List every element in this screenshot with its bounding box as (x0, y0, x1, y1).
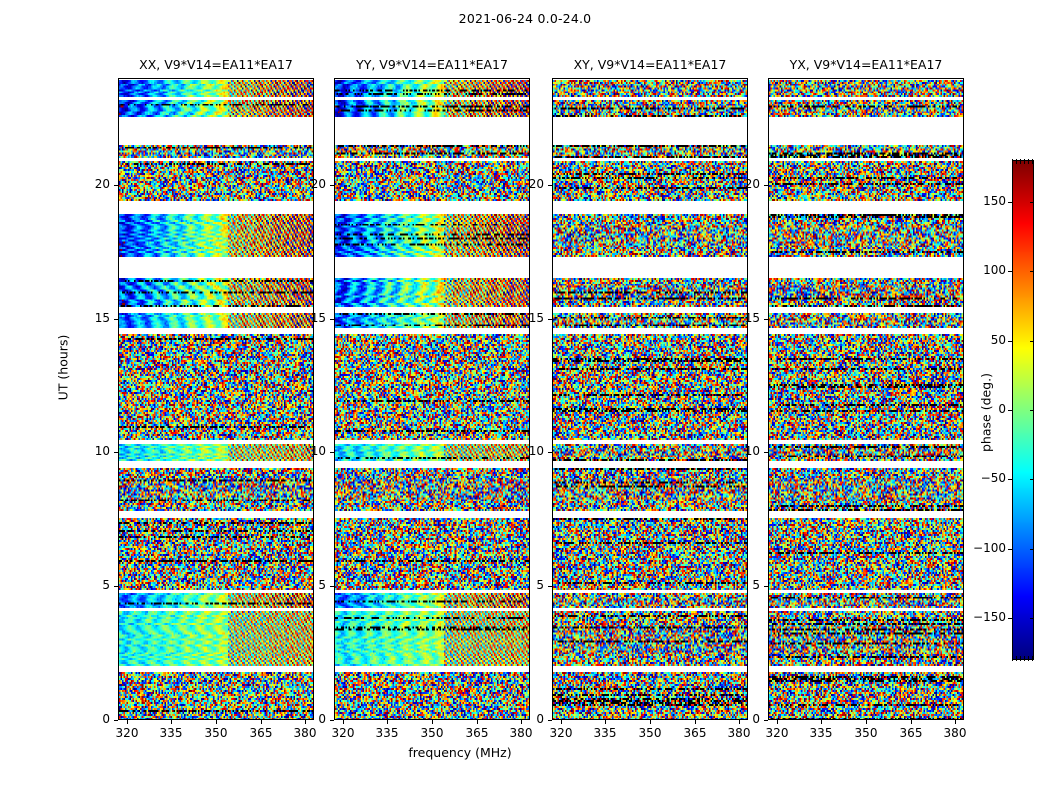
y-tick-label: 5 (76, 578, 110, 592)
x-tick-mark (911, 720, 912, 724)
x-tick-mark (821, 720, 822, 724)
y-tick-label: 10 (292, 444, 326, 458)
data-band (119, 593, 313, 608)
y-tick-label: 20 (510, 177, 544, 191)
colorbar-tick-mark (1008, 341, 1012, 342)
x-tick-mark (216, 720, 217, 724)
x-tick-mark (605, 720, 606, 724)
data-band (553, 444, 747, 461)
data-band (119, 145, 313, 158)
data-band (769, 214, 963, 257)
data-band (769, 444, 963, 461)
y-tick-mark (548, 319, 552, 320)
y-tick-mark (548, 185, 552, 186)
y-tick-mark (330, 720, 334, 721)
data-band (769, 611, 963, 666)
figure-title: 2021-06-24 0.0-24.0 (0, 11, 1050, 26)
data-band (335, 80, 529, 97)
x-tick-label: 365 (891, 726, 931, 740)
x-tick-label: 365 (241, 726, 281, 740)
y-tick-mark (764, 185, 768, 186)
data-band (119, 313, 313, 328)
y-tick-mark (330, 586, 334, 587)
x-tick-mark (695, 720, 696, 724)
plot-area (335, 79, 529, 719)
data-band (119, 444, 313, 461)
y-tick-label: 5 (510, 578, 544, 592)
data-band (119, 100, 313, 117)
data-band (119, 278, 313, 307)
colorbar-tick-mark (1008, 410, 1012, 411)
y-tick-mark (114, 720, 118, 721)
y-tick-label: 5 (292, 578, 326, 592)
x-tick-mark (432, 720, 433, 724)
colorbar-over-marker (1012, 159, 1034, 164)
x-tick-label: 365 (675, 726, 715, 740)
data-band (553, 145, 747, 158)
data-band (119, 518, 313, 590)
y-tick-label: 20 (292, 177, 326, 191)
y-tick-label: 10 (76, 444, 110, 458)
data-band (335, 518, 529, 590)
x-tick-label: 350 (412, 726, 452, 740)
data-band (119, 334, 313, 440)
plot-area (553, 79, 747, 719)
data-band (119, 468, 313, 511)
panel-title-yy: YY, V9*V14=EA11*EA17 (334, 57, 530, 72)
x-tick-label: 335 (801, 726, 841, 740)
data-band (769, 468, 963, 511)
y-tick-mark (114, 586, 118, 587)
y-tick-mark (114, 452, 118, 453)
x-axis-label: frequency (MHz) (0, 745, 920, 760)
colorbar-tick-label: 100 (962, 263, 1006, 277)
data-band (335, 593, 529, 608)
x-tick-label: 350 (846, 726, 886, 740)
data-band (553, 80, 747, 97)
panel-title-xy: XY, V9*V14=EA11*EA17 (552, 57, 748, 72)
data-band (119, 161, 313, 201)
colorbar-tick-mark (1008, 549, 1012, 550)
data-band (769, 334, 963, 440)
colorbar-tick-mark (1030, 410, 1034, 411)
data-band (553, 468, 747, 511)
x-tick-label: 320 (107, 726, 147, 740)
y-tick-mark (114, 319, 118, 320)
data-band (553, 593, 747, 608)
y-tick-label: 15 (292, 311, 326, 325)
x-tick-label: 365 (457, 726, 497, 740)
data-band (335, 672, 529, 719)
data-band (335, 145, 529, 158)
x-tick-label: 320 (757, 726, 797, 740)
data-band (335, 313, 529, 328)
heatmap-panel-xy[interactable] (552, 78, 748, 720)
panel-title-xx: XX, V9*V14=EA11*EA17 (118, 57, 314, 72)
y-tick-label: 10 (510, 444, 544, 458)
x-tick-mark (127, 720, 128, 724)
heatmap-panel-xx[interactable] (118, 78, 314, 720)
data-band (335, 214, 529, 257)
data-band (553, 214, 747, 257)
colorbar-tick-mark (1008, 271, 1012, 272)
x-tick-label: 335 (151, 726, 191, 740)
colorbar-tick-mark (1008, 202, 1012, 203)
x-tick-label: 335 (367, 726, 407, 740)
y-tick-label: 5 (726, 578, 760, 592)
y-axis-label: UT (hours) (56, 298, 71, 438)
y-tick-mark (114, 185, 118, 186)
colorbar-tick-mark (1008, 618, 1012, 619)
x-tick-label: 350 (630, 726, 670, 740)
y-tick-mark (330, 185, 334, 186)
y-tick-mark (548, 452, 552, 453)
y-tick-mark (764, 452, 768, 453)
data-band (769, 518, 963, 590)
x-tick-label: 350 (196, 726, 236, 740)
colorbar-tick-label: −150 (962, 610, 1006, 624)
colorbar-tick-mark (1030, 479, 1034, 480)
y-tick-mark (764, 586, 768, 587)
y-tick-mark (764, 720, 768, 721)
data-band (553, 278, 747, 307)
y-tick-mark (548, 720, 552, 721)
data-band (335, 278, 529, 307)
data-band (553, 611, 747, 666)
x-tick-label: 320 (541, 726, 581, 740)
y-tick-label: 20 (726, 177, 760, 191)
x-tick-mark (387, 720, 388, 724)
data-band (769, 80, 963, 97)
plot-area (769, 79, 963, 719)
data-band (335, 468, 529, 511)
x-tick-label: 380 (935, 726, 975, 740)
x-tick-mark (955, 720, 956, 724)
data-band (335, 444, 529, 461)
x-tick-label: 320 (323, 726, 363, 740)
data-band (119, 672, 313, 719)
data-band (553, 672, 747, 719)
x-tick-label: 380 (719, 726, 759, 740)
y-tick-label: 0 (510, 712, 544, 726)
data-band (769, 100, 963, 117)
y-tick-mark (330, 319, 334, 320)
data-band (335, 334, 529, 440)
y-tick-mark (330, 452, 334, 453)
panel-title-yx: YX, V9*V14=EA11*EA17 (768, 57, 964, 72)
data-band (553, 161, 747, 201)
y-tick-mark (548, 586, 552, 587)
data-band (769, 145, 963, 158)
x-tick-mark (561, 720, 562, 724)
x-tick-mark (261, 720, 262, 724)
x-tick-label: 335 (585, 726, 625, 740)
colorbar-tick-mark (1030, 341, 1034, 342)
heatmap-panel-yx[interactable] (768, 78, 964, 720)
x-tick-mark (171, 720, 172, 724)
data-band (335, 161, 529, 201)
colorbar-tick-mark (1008, 479, 1012, 480)
colorbar-label: phase (deg.) (979, 343, 994, 483)
x-tick-label: 380 (501, 726, 541, 740)
colorbar-tick-label: 150 (962, 194, 1006, 208)
heatmap-panel-yy[interactable] (334, 78, 530, 720)
x-tick-mark (866, 720, 867, 724)
y-tick-label: 15 (726, 311, 760, 325)
x-tick-mark (343, 720, 344, 724)
colorbar-tick-mark (1030, 549, 1034, 550)
data-band (769, 161, 963, 201)
data-band (119, 214, 313, 257)
colorbar-tick-mark (1030, 202, 1034, 203)
y-tick-label: 15 (76, 311, 110, 325)
data-band (553, 313, 747, 328)
x-tick-mark (777, 720, 778, 724)
plot-area (119, 79, 313, 719)
data-band (553, 334, 747, 440)
y-tick-label: 20 (76, 177, 110, 191)
data-band (769, 313, 963, 328)
x-tick-label: 380 (285, 726, 325, 740)
data-band (553, 100, 747, 117)
colorbar-tick-mark (1030, 271, 1034, 272)
data-band (553, 518, 747, 590)
x-tick-mark (477, 720, 478, 724)
colorbar-under-marker (1012, 656, 1034, 661)
data-band (769, 593, 963, 608)
x-tick-mark (650, 720, 651, 724)
colorbar-tick-label: −100 (962, 541, 1006, 555)
colorbar-tick-mark (1030, 618, 1034, 619)
data-band (119, 611, 313, 666)
y-tick-label: 10 (726, 444, 760, 458)
y-tick-label: 0 (726, 712, 760, 726)
data-band (335, 100, 529, 117)
data-band (335, 611, 529, 666)
data-band (769, 672, 963, 719)
data-band (119, 80, 313, 97)
y-tick-label: 0 (76, 712, 110, 726)
y-tick-label: 15 (510, 311, 544, 325)
data-band (769, 278, 963, 307)
y-tick-mark (764, 319, 768, 320)
y-tick-label: 0 (292, 712, 326, 726)
